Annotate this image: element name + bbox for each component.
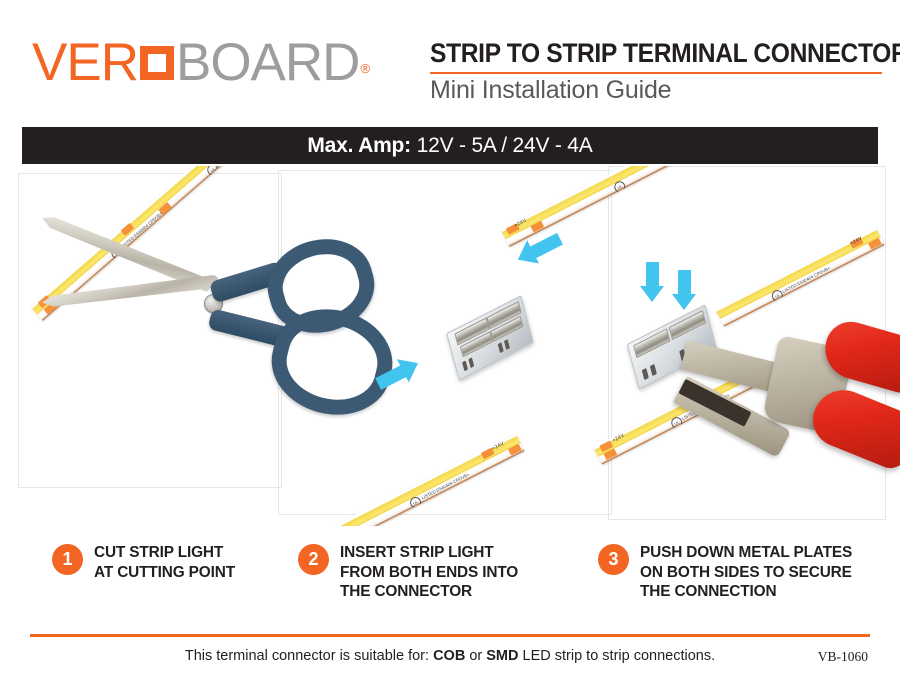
strip-voltage-label: +24V xyxy=(513,218,527,229)
title-block: STRIP TO STRIP TERMINAL CONNECTOR Mini I… xyxy=(430,40,882,105)
footer-note: This terminal connector is suitable for:… xyxy=(0,648,900,664)
max-amp-banner: Max. Amp: 12V - 5A / 24V - 4A xyxy=(22,127,878,164)
illustration-stage: UL LISTED E540404 CPDVB+ UL xyxy=(0,166,900,526)
step-caption-line: PUSH DOWN METAL PLATES xyxy=(640,543,852,563)
steps-row: 1 CUT STRIP LIGHT AT CUTTING POINT 2 INS… xyxy=(0,535,900,625)
pliers-icon xyxy=(684,316,900,516)
scissors-blade-lower xyxy=(41,274,219,309)
step-caption-line: CUT STRIP LIGHT xyxy=(94,543,235,563)
led-strip-joined-right: UL LISTED E540404 CPDVB+ +24V xyxy=(715,227,884,327)
step-1: 1 CUT STRIP LIGHT AT CUTTING POINT xyxy=(52,543,235,582)
footer-note-prefix: This terminal connector is suitable for: xyxy=(185,648,433,664)
step-caption-line: INSERT STRIP LIGHT xyxy=(340,543,518,563)
installation-guide-page: VER BOARD ® STRIP TO STRIP TERMINAL CONN… xyxy=(0,0,900,696)
strip-voltage-label: +24V xyxy=(491,441,505,452)
footer-smd-label: SMD xyxy=(486,648,518,664)
footer-cob-label: COB xyxy=(433,648,465,664)
arrow-head xyxy=(640,286,664,302)
step-caption-line: FROM BOTH ENDS INTO xyxy=(340,563,518,583)
led-strip-right: UL +24V +24V xyxy=(500,166,732,247)
step-caption: CUT STRIP LIGHT AT CUTTING POINT xyxy=(94,543,235,582)
arrow-head xyxy=(672,294,696,310)
led-strip-face: UL +24V +24V xyxy=(500,166,732,247)
step-caption-line: ON BOTH SIDES TO SECURE xyxy=(640,563,852,583)
page-subtitle: Mini Installation Guide xyxy=(430,76,882,105)
led-strip-face: UL LISTED E540404 CPDVB+ +24V xyxy=(715,227,884,327)
max-amp-label: Max. Amp: xyxy=(307,134,411,157)
step-caption-line: AT CUTTING POINT xyxy=(94,563,235,583)
strip-voltage-label: +24V xyxy=(611,433,625,444)
max-amp-value: 12V - 5A / 24V - 4A xyxy=(417,134,593,157)
registered-trademark-icon: ® xyxy=(360,61,370,76)
terminal-connector xyxy=(446,295,534,381)
logo-text-board: BOARD xyxy=(176,36,359,89)
veroboard-logo: VER BOARD ® xyxy=(32,36,369,88)
ul-cert-text: LISTED E540404 CPDVB+ xyxy=(421,472,471,501)
solder-pad xyxy=(868,238,882,250)
step-caption-line: THE CONNECTOR xyxy=(340,582,518,602)
ul-cert-text: LISTED E540404 CPDVB+ xyxy=(782,265,832,294)
footer-note-middle: or xyxy=(465,648,486,664)
ul-certification-icon: UL xyxy=(205,166,221,178)
title-divider xyxy=(430,72,882,75)
step-number-badge: 2 xyxy=(298,544,329,575)
step-caption: PUSH DOWN METAL PLATES ON BOTH SIDES TO … xyxy=(640,543,852,602)
square-o-icon xyxy=(140,46,174,80)
footer-note-suffix: LED strip to strip connections. xyxy=(518,648,715,664)
step-number-badge: 3 xyxy=(598,544,629,575)
step-caption-line: THE CONNECTION xyxy=(640,582,852,602)
step-caption: INSERT STRIP LIGHT FROM BOTH ENDS INTO T… xyxy=(340,543,518,602)
max-amp-text: Max. Amp: 12V - 5A / 24V - 4A xyxy=(307,134,592,158)
ul-certification-icon: UL xyxy=(612,179,627,194)
solder-pad xyxy=(530,221,544,233)
solder-pad xyxy=(508,444,522,456)
header: VER BOARD ® STRIP TO STRIP TERMINAL CONN… xyxy=(0,0,900,118)
product-code: VB-1060 xyxy=(818,649,868,665)
footer: This terminal connector is suitable for:… xyxy=(0,648,900,678)
arrow-shaft xyxy=(678,270,691,296)
scissors-icon xyxy=(40,206,340,456)
footer-divider xyxy=(30,634,870,637)
step-number-badge: 1 xyxy=(52,544,83,575)
step-2: 2 INSERT STRIP LIGHT FROM BOTH ENDS INTO… xyxy=(298,543,518,602)
arrow-shaft xyxy=(646,262,659,288)
arrow-shaft xyxy=(530,233,563,258)
logo-text-vero: VER xyxy=(32,36,138,89)
step-3: 3 PUSH DOWN METAL PLATES ON BOTH SIDES T… xyxy=(598,543,852,602)
page-title: STRIP TO STRIP TERMINAL CONNECTOR xyxy=(430,40,850,68)
